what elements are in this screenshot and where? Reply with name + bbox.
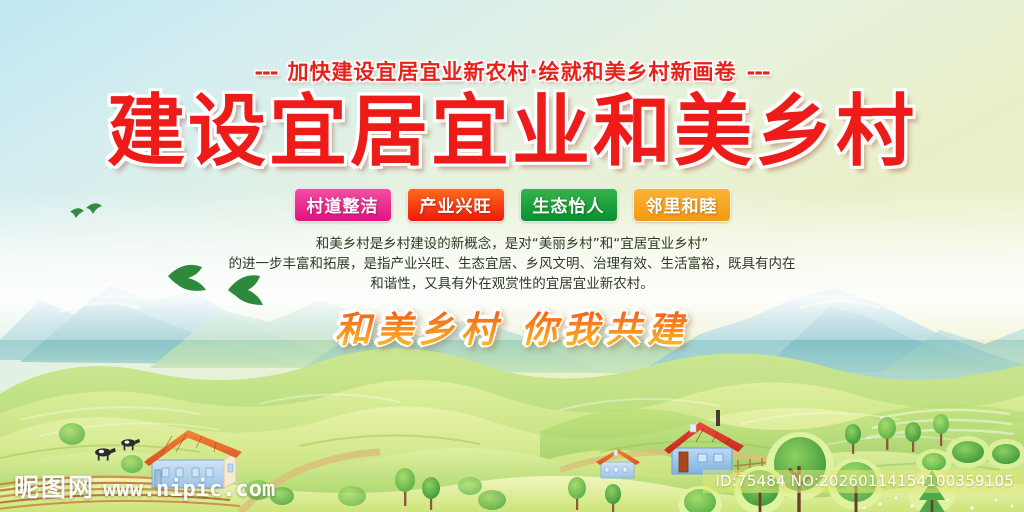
kicker-text: 加快建设宜居宜业新农村·绘就和美乡村新画卷 [288,60,737,84]
watermark-url: www.nipic.com [103,477,275,502]
keyword-tag-row: 村道整洁 产业兴旺 生态怡人 邻里和睦 [0,188,1024,222]
image-id-bar: ID:75484 NO:20260114154100359105 [703,470,1024,493]
description-paragraph: 和美乡村是乡村建设的新概念，是对“美丽乡村”和“宜居宜业乡村” 的进一步丰富和拓… [182,234,842,294]
slogan-text: 和美乡村 你我共建 [0,310,1024,350]
poster-content: ---加快建设宜居宜业新农村·绘就和美乡村新画卷--- 建设宜居宜业和美乡村 村… [0,56,1024,350]
tag-industry-thriving[interactable]: 产业兴旺 [407,188,505,222]
description-line-1: 和美乡村是乡村建设的新概念，是对“美丽乡村”和“宜居宜业乡村” [182,234,842,254]
tag-village-road-tidy[interactable]: 村道整洁 [294,188,392,222]
tag-neighbors-harmony[interactable]: 邻里和睦 [633,188,731,222]
site-watermark: 昵图网 www.nipic.com [14,468,275,504]
small-trees [395,468,621,512]
kicker-dash-right: --- [746,60,769,84]
center-house [596,449,640,478]
description-line-2: 的进一步丰富和拓展，是指产业兴旺、生态宜居、乡风文明、治理有效、生活富裕，既具有… [182,254,842,274]
watermark-site-name: 昵图网 [14,468,95,504]
kicker-dash-left: --- [254,60,277,84]
description-line-3: 和谐性，又具有外在观赏性的宜居宜业新农村。 [182,274,842,294]
kicker-line: ---加快建设宜居宜业新农村·绘就和美乡村新画卷--- [0,56,1024,86]
tag-ecology-pleasant[interactable]: 生态怡人 [520,188,618,222]
main-title: 建设宜居宜业和美乡村 [0,90,1024,174]
poster-canvas: ---加快建设宜居宜业新农村·绘就和美乡村新画卷--- 建设宜居宜业和美乡村 村… [0,0,1024,512]
